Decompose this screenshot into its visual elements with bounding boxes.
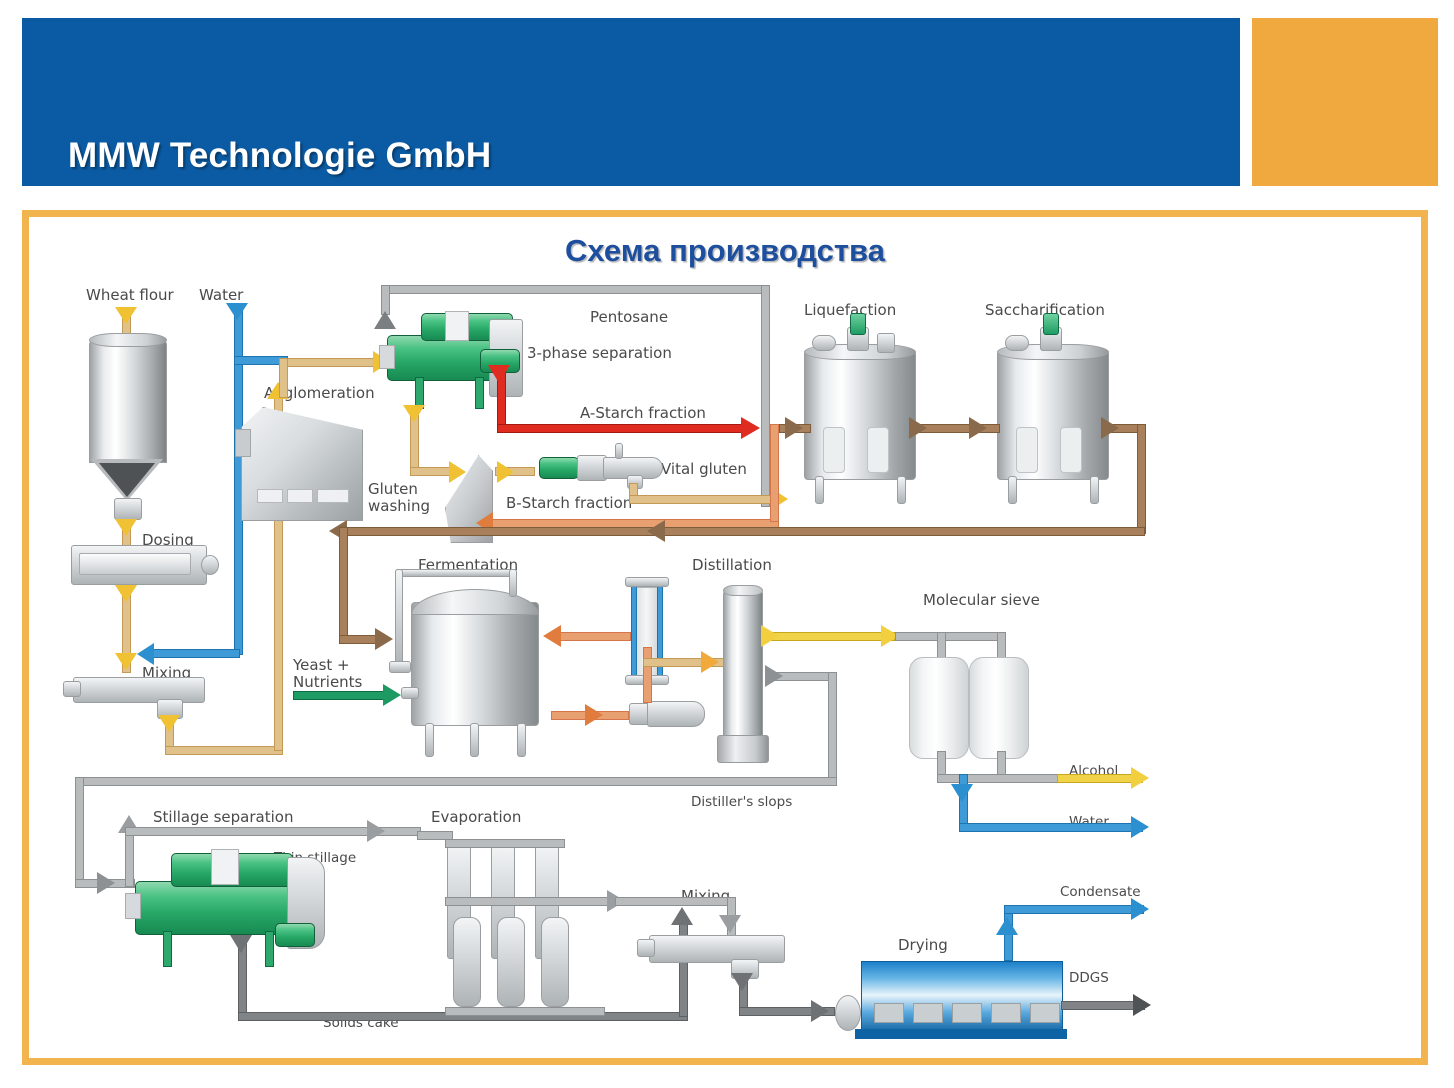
arrow-into-liquefaction xyxy=(785,417,803,439)
dryer-feed-screw xyxy=(835,995,861,1031)
pipe-mash-to-ferm xyxy=(339,527,348,643)
decanter-coupling xyxy=(445,311,469,341)
pipe-pentosane-right xyxy=(761,285,770,507)
liquefaction-impeller-l xyxy=(823,427,845,473)
saccharification-manhole xyxy=(1005,335,1029,351)
label-ddgs: DDGS xyxy=(1069,971,1109,986)
arrow-solids-down xyxy=(230,935,252,953)
pump-motor-green xyxy=(539,457,579,479)
arrow-to-distillation xyxy=(701,651,719,673)
stillage-leg-2 xyxy=(265,931,274,967)
drying-unit xyxy=(861,961,1063,1035)
stillage-outlet-green xyxy=(275,923,315,947)
distillation-sump xyxy=(717,735,769,763)
arrow-water-product xyxy=(1131,816,1149,838)
arrow-mash-return-2 xyxy=(647,520,665,542)
molecular-sieve-vessel-a xyxy=(909,657,969,759)
arrow-slops-into-decanter xyxy=(97,872,115,894)
fermentation-tank xyxy=(411,602,539,726)
dryer-window-5 xyxy=(1030,1003,1060,1023)
arrow-liq-to-sacch-1 xyxy=(909,417,927,439)
arrow-condensate-up xyxy=(996,917,1018,935)
label-pentosane: Pentosane xyxy=(590,309,668,326)
saccharification-tank xyxy=(997,350,1109,480)
arrow-liq-to-sacch-2 xyxy=(969,417,987,439)
arrow-slops-out xyxy=(765,665,783,687)
arrow-into-mixing xyxy=(115,653,137,670)
label-stillage-separation: Stillage separation xyxy=(153,809,293,826)
pipe-condensate-out xyxy=(1004,905,1144,914)
pipe-slops-to-stillage xyxy=(75,777,837,786)
sacch-impeller-r xyxy=(1060,427,1082,473)
mash-pump-body xyxy=(647,701,705,727)
label-yeast-nutrients: Yeast + Nutrients xyxy=(293,657,362,691)
pipe-slops-down xyxy=(828,672,837,782)
arrow-mixing-out-down xyxy=(731,973,753,991)
pipe-solids-riser xyxy=(679,917,688,1017)
arrow-thin-stillage-right xyxy=(367,820,385,842)
liquefaction-motor xyxy=(850,313,866,335)
label-evaporation: Evaporation xyxy=(431,809,521,826)
stillage-coupling xyxy=(211,849,239,885)
dryer-window-4 xyxy=(991,1003,1021,1023)
fermentation-topline xyxy=(395,569,517,577)
label-3-phase-separation: 3-phase separation xyxy=(527,345,672,362)
arrow-solids-up-to-mixing xyxy=(671,907,693,925)
pipe-ferm-hx-top xyxy=(551,632,631,641)
arrow-ferm-pump xyxy=(585,704,603,726)
pipe-a-starch-right xyxy=(497,424,747,433)
mixing-inlet-top xyxy=(63,681,81,697)
arrow-alcohol-product xyxy=(1131,767,1149,789)
arrow-washer-out xyxy=(497,461,514,483)
label-molecular-sieve: Molecular sieve xyxy=(923,592,1040,609)
label-drying: Drying xyxy=(898,937,948,954)
arrow-pentosane-out xyxy=(374,311,396,329)
pipe-sieve-collector xyxy=(937,774,1061,783)
pipe-evap-mid-header xyxy=(445,897,613,906)
pipe-mash-down xyxy=(1137,424,1146,534)
arrow-ferm-hx-top xyxy=(543,625,561,647)
fermentation-leg-1 xyxy=(425,723,434,757)
mixing-unit-top xyxy=(73,677,205,703)
label-wheat-flour: Wheat flour xyxy=(86,287,174,304)
distillation-column xyxy=(723,589,763,743)
arrow-water-to-mixing xyxy=(137,643,154,665)
evaporator-sep-1 xyxy=(453,917,481,1007)
arrow-condensate-out xyxy=(1131,898,1149,920)
arrow-to-dosing xyxy=(115,519,137,536)
evaporator-sep-3 xyxy=(541,917,569,1007)
arrow-yeast-in xyxy=(383,684,401,706)
process-flow-diagram: Wheat flour Water Dosing Mixing Agglomer… xyxy=(29,217,1435,1058)
decanter-leg-2 xyxy=(475,377,484,409)
arrow-gluten-down xyxy=(403,405,425,422)
pipe-flour-top-right xyxy=(279,358,375,367)
liquefaction-leg-l xyxy=(815,476,824,504)
pipe-slops-left-riser xyxy=(75,777,84,887)
pipe-yeast-feed xyxy=(293,691,389,700)
liquefaction-leg-r xyxy=(897,476,906,504)
slide-frame: Схема производства Wheat flour Water Dos… xyxy=(22,210,1428,1065)
saccharification-motor xyxy=(1043,313,1059,335)
pipe-pump-riser xyxy=(643,647,652,703)
pipe-water-to-mixing xyxy=(148,649,240,658)
molecular-sieve-vessel-b xyxy=(969,657,1029,759)
dosing-motor xyxy=(201,555,219,575)
agglo-window-2 xyxy=(287,489,313,503)
pipe-mixing-right xyxy=(165,746,283,755)
agglo-window-1 xyxy=(257,489,283,503)
dryer-base xyxy=(855,1029,1067,1039)
logo-box: MMW xyxy=(1252,18,1438,186)
sacch-leg-r xyxy=(1090,476,1099,504)
dryer-window-2 xyxy=(913,1003,943,1023)
arrow-a-starch-right xyxy=(741,417,760,439)
arrow-water-drop xyxy=(951,784,973,802)
pipe-water-product xyxy=(959,823,1143,832)
pipe-mash-return xyxy=(339,527,1145,536)
silo-lid xyxy=(89,333,167,347)
fermentation-valve-a xyxy=(389,661,411,673)
sacch-leg-l xyxy=(1008,476,1017,504)
liquefaction-impeller-r xyxy=(867,427,889,473)
dryer-window-1 xyxy=(874,1003,904,1023)
label-gluten-washing: Gluten washing xyxy=(368,481,430,515)
arrow-flour-in xyxy=(115,307,137,324)
arrow-mixing-down xyxy=(158,715,180,732)
fermentation-valve-b xyxy=(401,687,419,699)
pump-stand xyxy=(615,443,623,459)
arrow-water-in xyxy=(226,303,248,320)
fermentation-dome xyxy=(411,589,539,615)
dryer-window-3 xyxy=(952,1003,982,1023)
arrow-syrup-down xyxy=(719,915,741,933)
silo-outlet xyxy=(114,498,142,520)
distillation-top-cap xyxy=(723,585,763,596)
fermentation-vent xyxy=(509,569,517,597)
label-b-starch-fraction: B-Starch fraction xyxy=(506,495,632,512)
pipe-b-starch-riser xyxy=(770,424,779,522)
evaporator-sep-2 xyxy=(497,917,525,1007)
arrow-sacch-out xyxy=(1101,417,1119,439)
flour-silo xyxy=(89,339,167,463)
pipe-gluten-right xyxy=(410,467,454,476)
arrow-mash-into-ferm xyxy=(375,628,393,650)
liquefaction-tank xyxy=(804,350,916,480)
liquefaction-manhole xyxy=(812,335,836,351)
label-vital-gluten: Vital gluten xyxy=(661,461,747,478)
dosing-trough xyxy=(79,553,191,575)
stillage-feed-port xyxy=(125,893,141,919)
sacch-impeller-l xyxy=(1016,427,1038,473)
phe-frame-left xyxy=(631,585,637,677)
label-distillation: Distillation xyxy=(692,557,772,574)
pipe-thin-stillage-up xyxy=(125,827,134,887)
mixing-inlet-bottom xyxy=(637,939,655,957)
fermentation-leg-2 xyxy=(470,723,479,757)
pipe-sieve-header xyxy=(895,632,1005,641)
arrow-alcohol-1 xyxy=(761,625,779,647)
pipe-pentosane-top xyxy=(381,285,769,294)
pipe-evap-to-mixing xyxy=(615,897,733,906)
label-water-inlet: Water xyxy=(199,287,243,304)
decanter-feed-port xyxy=(379,345,395,369)
silo-cone-shade xyxy=(99,463,155,497)
mixing-unit-bottom xyxy=(649,935,785,963)
page-title: MMW Technologie GmbH xyxy=(68,136,491,176)
agglomeration-inlet xyxy=(235,429,251,457)
arrow-into-dryer xyxy=(811,1000,829,1022)
pipe-vital-gluten-right xyxy=(629,495,777,504)
arrow-ddgs-out xyxy=(1133,994,1151,1016)
label-distillers-slops: Distiller's slops xyxy=(691,795,792,810)
phe-top-bar xyxy=(625,577,669,587)
arrow-dosing-out xyxy=(115,585,137,602)
arrow-a-starch-down xyxy=(488,365,510,383)
pipe-evap-bottom-header xyxy=(445,1007,605,1016)
fermentation-leg-3 xyxy=(517,723,526,757)
pipe-evap-top-header xyxy=(445,839,565,848)
label-condensate: Condensate xyxy=(1060,885,1141,900)
pipe-alcohol-to-sieve xyxy=(765,632,895,641)
fermentation-downcomer xyxy=(395,569,403,669)
stillage-leg-1 xyxy=(163,931,172,967)
pipe-flour-top-corner xyxy=(279,358,288,398)
agglomeration-unit xyxy=(241,407,363,521)
agglo-window-3 xyxy=(317,489,349,503)
label-a-starch-fraction: A-Starch fraction xyxy=(580,405,706,422)
liquefaction-nozzle xyxy=(877,333,895,353)
